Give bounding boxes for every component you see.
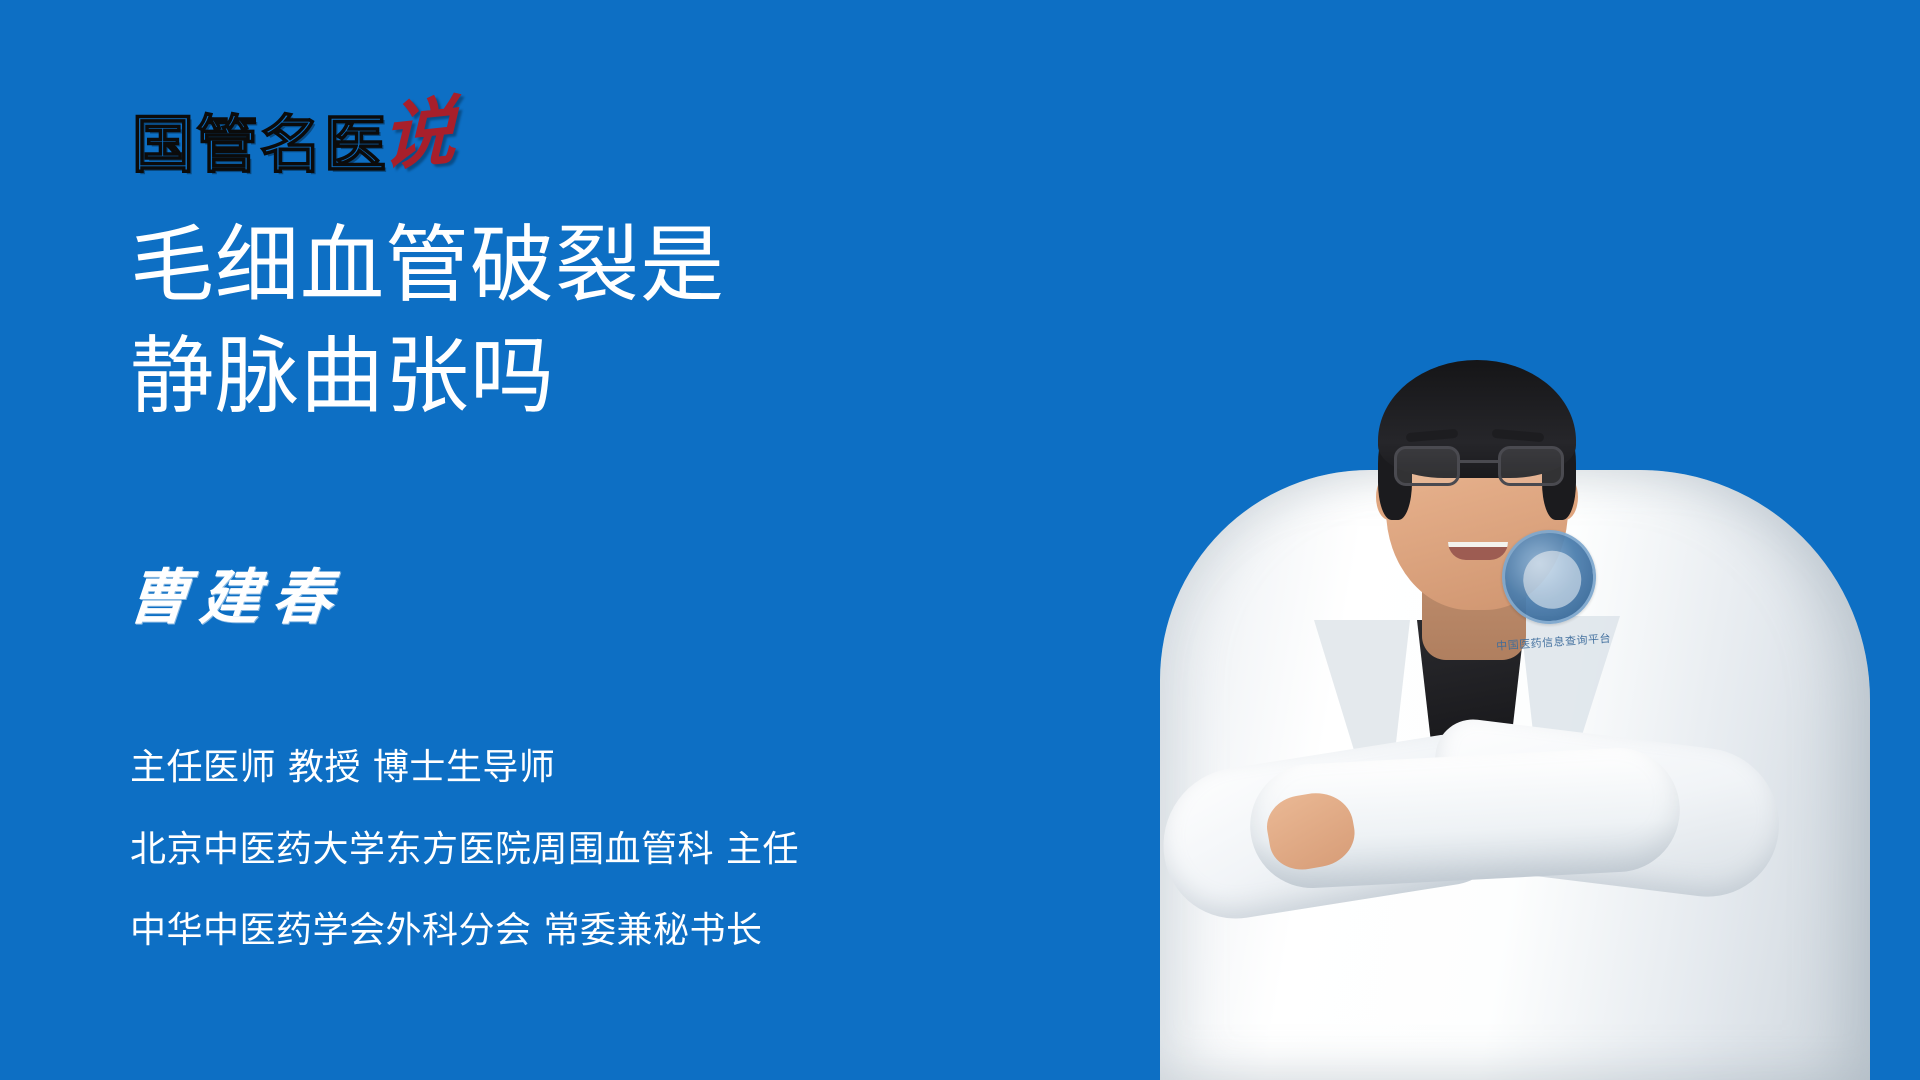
credential-line-3: 中华中医药学会外科分会 常委兼秘书长	[130, 890, 1080, 972]
program-logo-accent-text: 说	[382, 94, 456, 176]
lens-right	[1498, 446, 1564, 486]
eyeglasses	[1392, 446, 1566, 488]
doctor-credentials: 主任医师 教授 博士生导师 北京中医药大学东方医院周围血管科 主任 中华中医药学…	[130, 727, 1080, 972]
video-cover-poster: 中国医药信息查询平台 国管名医 说 毛细血管破裂是 静脉曲张吗 曹建春 主任医师…	[0, 0, 1920, 1080]
coat-badge: 中国医药信息查询平台	[1483, 526, 1617, 684]
badge-emblem-inner	[1521, 549, 1583, 611]
badge-emblem-icon	[1499, 527, 1599, 627]
lens-left	[1394, 446, 1460, 486]
doctor-portrait-photo: 中国医药信息查询平台	[1100, 0, 1920, 1080]
credential-line-2: 北京中医药大学东方医院周围血管科 主任	[130, 809, 1080, 891]
glasses-bridge	[1460, 460, 1498, 463]
title-line-2: 静脉曲张吗	[130, 321, 950, 432]
badge-label: 中国医药信息查询平台	[1488, 629, 1619, 654]
program-logo-main-text: 国管名医	[132, 114, 388, 176]
title-line-1: 毛细血管破裂是	[130, 210, 950, 321]
credential-line-1: 主任医师 教授 博士生导师	[130, 727, 1080, 809]
video-title: 毛细血管破裂是 静脉曲张吗	[130, 210, 950, 432]
program-logo: 国管名医 说	[132, 96, 456, 176]
doctor-name: 曹建春	[125, 568, 346, 628]
